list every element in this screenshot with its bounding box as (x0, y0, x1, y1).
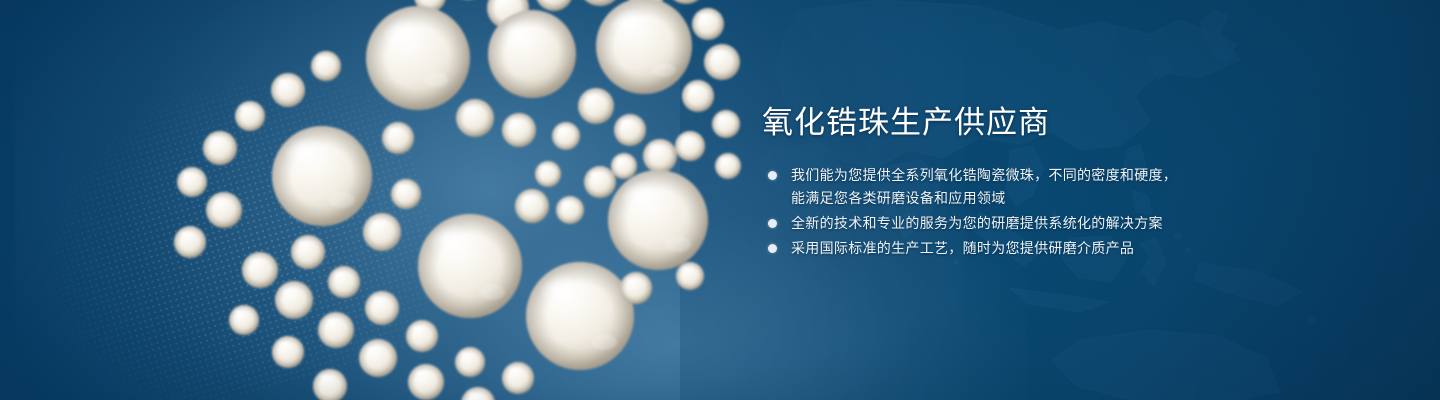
bullet-dot-icon (768, 171, 777, 180)
list-item: 我们能为您提供全系列氧化锆陶瓷微珠，不同的密度和硬度， 能满足您各类研磨设备和应… (762, 164, 1232, 210)
hero-banner: 氧化锆珠生产供应商 我们能为您提供全系列氧化锆陶瓷微珠，不同的密度和硬度， 能满… (0, 0, 1440, 400)
banner-headline: 氧化锆珠生产供应商 (762, 104, 1232, 142)
bullet-dot-icon (768, 219, 777, 228)
bullet-line-1: 我们能为您提供全系列氧化锆陶瓷微珠，不同的密度和硬度， (791, 167, 1177, 183)
bullet-line-1: 全新的技术和专业的服务为您的研磨提供系统化的解决方案 (791, 215, 1163, 231)
bullet-line-2: 能满足您各类研磨设备和应用领域 (791, 187, 1232, 210)
list-item: 采用国际标准的生产工艺，随时为您提供研磨介质产品 (762, 237, 1232, 260)
list-item: 全新的技术和专业的服务为您的研磨提供系统化的解决方案 (762, 212, 1232, 235)
bullet-line-1: 采用国际标准的生产工艺，随时为您提供研磨介质产品 (791, 240, 1134, 256)
banner-feature-list: 我们能为您提供全系列氧化锆陶瓷微珠，不同的密度和硬度， 能满足您各类研磨设备和应… (762, 164, 1232, 260)
banner-copy-block: 氧化锆珠生产供应商 我们能为您提供全系列氧化锆陶瓷微珠，不同的密度和硬度， 能满… (762, 104, 1232, 262)
bullet-dot-icon (768, 244, 777, 253)
